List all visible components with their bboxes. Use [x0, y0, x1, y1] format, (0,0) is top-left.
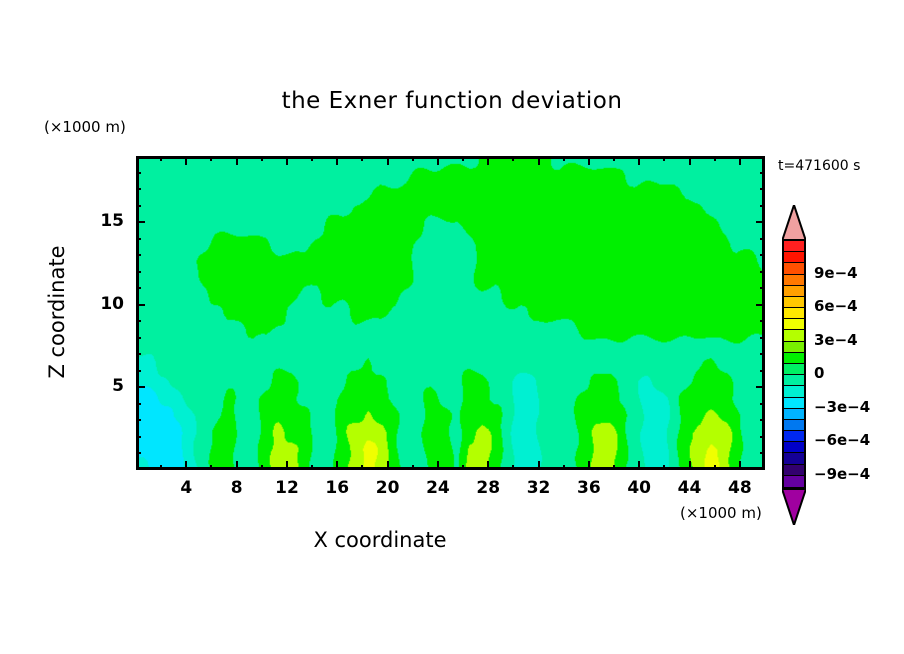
y-tick-right-17	[760, 188, 765, 190]
x-tick-44	[689, 461, 691, 470]
y-tick-right-15	[756, 221, 765, 223]
x-tick-top-22	[412, 156, 414, 161]
colorbar-segment-22	[784, 476, 804, 487]
x-tick-label-32: 32	[519, 478, 559, 498]
x-tick-4	[185, 461, 187, 470]
x-tick-top-10	[261, 156, 263, 161]
colorbar-segment-17	[784, 420, 804, 431]
x-tick-top-48	[739, 156, 741, 165]
x-tick-label-48: 48	[720, 478, 760, 498]
colorbar-segment-16	[784, 409, 804, 420]
y-tick-5	[136, 386, 145, 388]
y-tick-right-10	[756, 304, 765, 306]
colorbar-segment-9	[784, 330, 804, 341]
x-axis-unit-label: (×1000 m)	[680, 504, 762, 522]
x-tick-top-8	[236, 156, 238, 165]
y-axis-unit-label: (×1000 m)	[44, 118, 126, 136]
x-tick-top-16	[336, 156, 338, 165]
x-tick-46	[714, 465, 716, 470]
x-tick-14	[311, 465, 313, 470]
colorbar-segment-3	[784, 263, 804, 274]
x-tick-36	[588, 461, 590, 470]
y-tick-right-3	[760, 419, 765, 421]
colorbar-segment-20	[784, 453, 804, 464]
timestamp-label: t=471600 s	[778, 158, 860, 174]
x-tick-42	[663, 465, 665, 470]
y-tick-right-12	[760, 271, 765, 273]
y-tick-right-16	[760, 205, 765, 207]
x-tick-34	[563, 465, 565, 470]
colorbar-segment-15	[784, 398, 804, 409]
x-tick-top-2	[160, 156, 162, 161]
x-tick-6	[210, 465, 212, 470]
x-tick-label-28: 28	[468, 478, 508, 498]
y-tick-10	[136, 304, 145, 306]
y-tick-label-15: 15	[84, 211, 124, 231]
x-tick-26	[462, 465, 464, 470]
y-tick-17	[136, 188, 141, 190]
x-tick-top-12	[286, 156, 288, 165]
y-tick-right-8	[760, 337, 765, 339]
x-tick-top-30	[512, 156, 514, 161]
y-tick-14	[136, 238, 141, 240]
colorbar-segment-13	[784, 375, 804, 386]
x-tick-top-34	[563, 156, 565, 161]
page-title: the Exner function deviation	[0, 88, 904, 114]
x-tick-top-40	[638, 156, 640, 165]
colorbar-segment-14	[784, 386, 804, 397]
colorbar-segments	[782, 239, 806, 489]
x-tick-top-20	[387, 156, 389, 165]
contour-plot-area[interactable]	[136, 156, 765, 470]
y-tick-right-4	[760, 403, 765, 405]
x-tick-12	[286, 461, 288, 470]
y-tick-right-18	[760, 172, 765, 174]
y-tick-4	[136, 403, 141, 405]
x-tick-top-14	[311, 156, 313, 161]
x-tick-top-32	[538, 156, 540, 165]
x-tick-48	[739, 461, 741, 470]
y-tick-6	[136, 370, 141, 372]
colorbar-segment-2	[784, 252, 804, 263]
y-tick-13	[136, 254, 141, 256]
x-tick-top-4	[185, 156, 187, 165]
y-tick-15	[136, 221, 145, 223]
x-axis-title: X coordinate	[0, 528, 760, 552]
x-tick-label-44: 44	[670, 478, 710, 498]
y-tick-12	[136, 271, 141, 273]
x-tick-10	[261, 465, 263, 470]
colorbar[interactable]: 9e−46e−43e−40−3e−4−6e−4−9e−4	[778, 205, 810, 523]
x-tick-top-18	[361, 156, 363, 161]
contour-field-canvas	[139, 159, 762, 467]
x-tick-top-42	[663, 156, 665, 161]
x-tick-28	[487, 461, 489, 470]
y-tick-right-6	[760, 370, 765, 372]
y-tick-3	[136, 419, 141, 421]
x-tick-top-6	[210, 156, 212, 161]
x-tick-38	[613, 465, 615, 470]
y-tick-7	[136, 353, 141, 355]
colorbar-label-6: −9e−4	[814, 465, 870, 483]
y-tick-11	[136, 287, 141, 289]
colorbar-top-arrow	[782, 205, 806, 239]
y-tick-1	[136, 452, 141, 454]
x-tick-top-26	[462, 156, 464, 161]
x-tick-top-36	[588, 156, 590, 165]
x-tick-16	[336, 461, 338, 470]
colorbar-segment-21	[784, 465, 804, 476]
y-tick-18	[136, 172, 141, 174]
colorbar-label-2: 3e−4	[814, 331, 858, 349]
x-tick-label-8: 8	[217, 478, 257, 498]
colorbar-segment-7	[784, 308, 804, 319]
colorbar-segment-10	[784, 342, 804, 353]
x-tick-label-16: 16	[317, 478, 357, 498]
x-tick-label-12: 12	[267, 478, 307, 498]
x-tick-18	[361, 465, 363, 470]
y-tick-right-5	[756, 386, 765, 388]
y-tick-right-7	[760, 353, 765, 355]
y-tick-right-13	[760, 254, 765, 256]
x-tick-label-20: 20	[368, 478, 408, 498]
y-tick-8	[136, 337, 141, 339]
colorbar-label-0: 9e−4	[814, 264, 858, 282]
colorbar-segment-6	[784, 297, 804, 308]
colorbar-segment-4	[784, 275, 804, 286]
x-tick-40	[638, 461, 640, 470]
colorbar-bottom-arrow	[782, 489, 806, 523]
y-tick-right-11	[760, 287, 765, 289]
x-tick-top-28	[487, 156, 489, 165]
x-tick-8	[236, 461, 238, 470]
colorbar-segment-5	[784, 286, 804, 297]
x-tick-top-44	[689, 156, 691, 165]
y-tick-right-1	[760, 452, 765, 454]
colorbar-segment-18	[784, 431, 804, 442]
y-tick-label-5: 5	[84, 376, 124, 396]
y-tick-right-2	[760, 436, 765, 438]
x-tick-label-24: 24	[418, 478, 458, 498]
colorbar-label-4: −3e−4	[814, 398, 870, 416]
colorbar-label-1: 6e−4	[814, 297, 858, 315]
y-tick-2	[136, 436, 141, 438]
y-tick-label-10: 10	[84, 294, 124, 314]
x-tick-2	[160, 465, 162, 470]
colorbar-label-3: 0	[814, 364, 824, 382]
colorbar-segment-11	[784, 353, 804, 364]
x-tick-32	[538, 461, 540, 470]
colorbar-segment-8	[784, 319, 804, 330]
x-tick-30	[512, 465, 514, 470]
y-tick-right-9	[760, 320, 765, 322]
colorbar-segment-1	[784, 241, 804, 252]
x-tick-22	[412, 465, 414, 470]
y-axis-title: Z coordinate	[45, 212, 69, 412]
x-tick-top-38	[613, 156, 615, 161]
x-tick-label-36: 36	[569, 478, 609, 498]
y-tick-9	[136, 320, 141, 322]
x-tick-label-4: 4	[166, 478, 206, 498]
x-tick-top-46	[714, 156, 716, 161]
x-tick-label-40: 40	[619, 478, 659, 498]
x-tick-20	[387, 461, 389, 470]
x-tick-top-24	[437, 156, 439, 165]
colorbar-segment-12	[784, 364, 804, 375]
y-tick-16	[136, 205, 141, 207]
colorbar-segment-19	[784, 442, 804, 453]
x-tick-24	[437, 461, 439, 470]
colorbar-label-5: −6e−4	[814, 431, 870, 449]
y-tick-right-14	[760, 238, 765, 240]
